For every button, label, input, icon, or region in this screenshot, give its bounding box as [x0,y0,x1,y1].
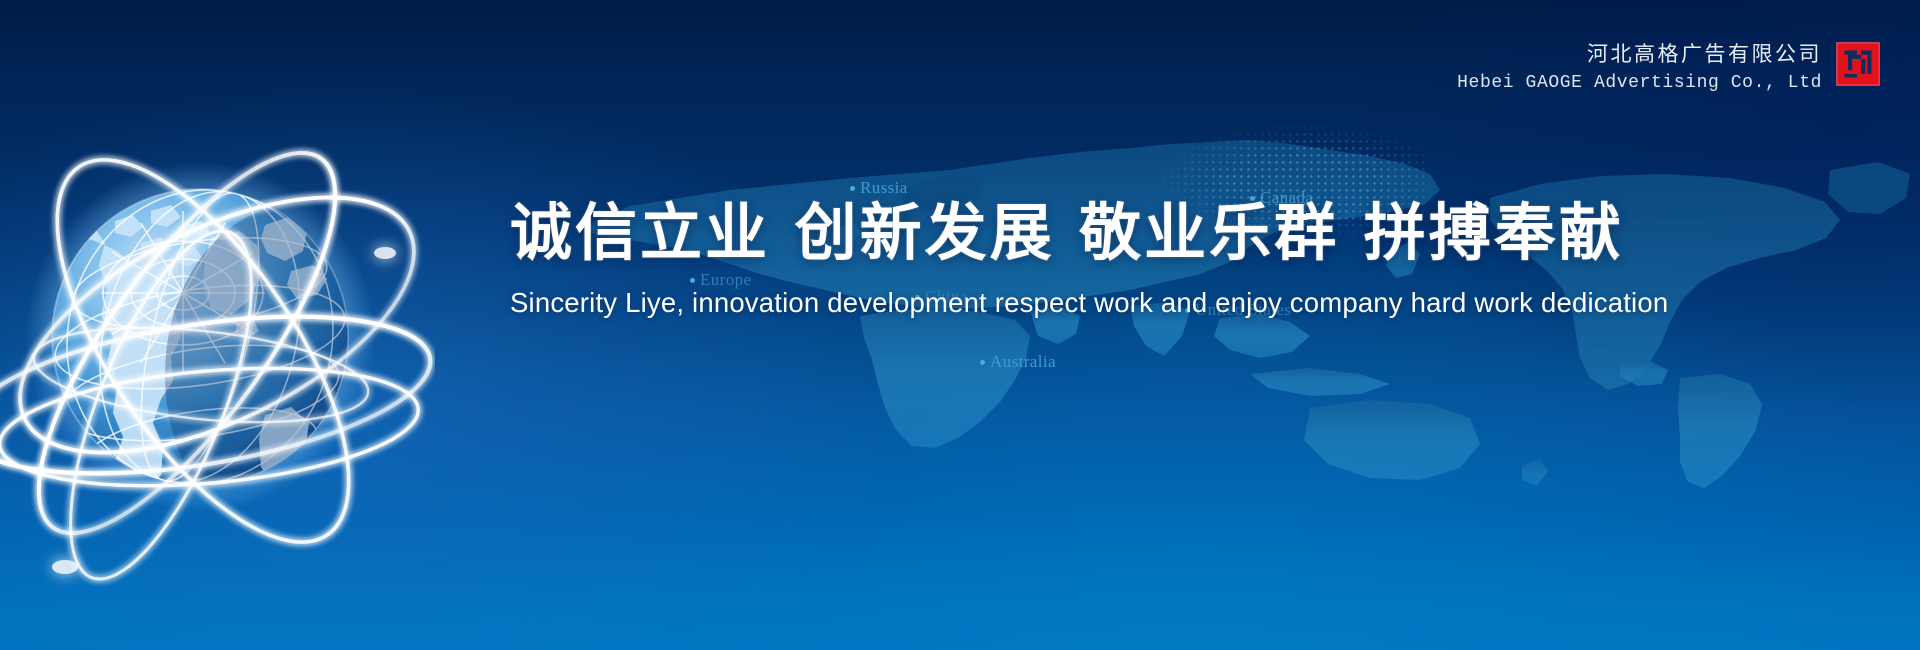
slogan-english: Sincerity Liye, innovation development r… [510,287,1870,319]
company-name-cn: 河北高格广告有限公司 [1457,40,1822,68]
company-banner: Russia Canada China Europe United States… [0,0,1920,650]
map-label-australia: Australia [980,352,1056,372]
gaoge-monogram-icon [1836,42,1880,86]
background-glow [0,0,1920,650]
map-label-russia: Russia [850,178,908,198]
slogan-chinese: 诚信立业 创新发展 敬业乐群 拼搏奉献 [510,196,1870,269]
slogan-block: 诚信立业 创新发展 敬业乐群 拼搏奉献 Sincerity Liye, inno… [510,196,1870,319]
map-marker-dot-icon [850,186,855,191]
map-marker-dot-icon [980,360,985,365]
company-name-group: 河北高格广告有限公司 Hebei GAOGE Advertising Co., … [1457,38,1822,96]
globe-network-icon [0,75,435,595]
company-name-en: Hebei GAOGE Advertising Co., Ltd [1457,70,1822,96]
company-identity: 河北高格广告有限公司 Hebei GAOGE Advertising Co., … [1457,38,1880,96]
map-label-text: Russia [860,178,908,197]
map-label-text: Australia [990,352,1056,371]
